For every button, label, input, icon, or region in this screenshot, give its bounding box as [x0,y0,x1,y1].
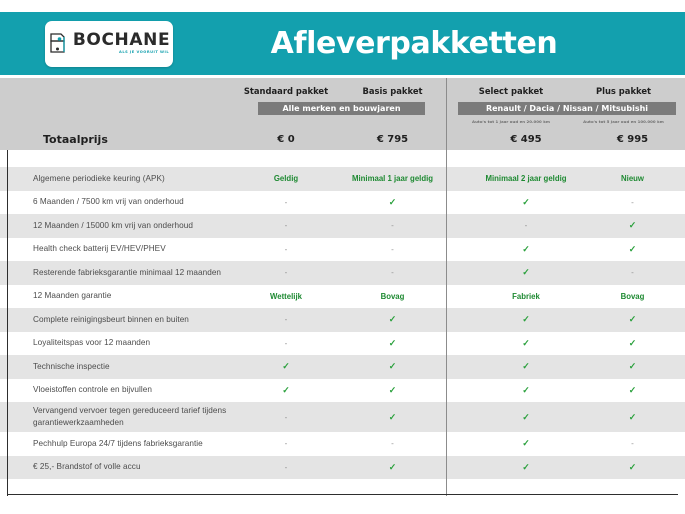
row-cell: - [233,339,339,348]
row-cell: ✓ [472,267,580,278]
row-cell: ✓ [580,314,685,325]
row-label: Complete reinigingsbeurt binnen en buite… [0,314,233,326]
brandbar-all-makes: Alle merken en bouwjaren [258,102,425,115]
check-icon: ✓ [389,197,397,207]
check-icon: ✓ [522,267,530,277]
dash-icon: - [391,439,394,448]
row-cell: ✓ [472,438,580,449]
cell-text: Fabriek [512,292,540,301]
check-icon: ✓ [629,244,637,254]
check-icon: ✓ [389,462,397,472]
total-price-select: € 495 [472,134,580,145]
brandbar-renault-group: Renault / Dacia / Nissan / Mitsubishi [458,102,676,115]
row-cell: Fabriek [472,292,580,301]
cell-text: Minimaal 2 jaar geldig [485,174,566,183]
check-icon: ✓ [389,412,397,422]
logo-tagline: ALS JE VOORUIT WIL [119,51,169,55]
row-cell: ✓ [472,361,580,372]
package-note-select: Auto's tot 1 jaar oud en 20.000 km [457,119,565,124]
table-row: Resterende fabrieksgarantie minimaal 12 … [0,261,685,285]
cell-text: Minimaal 1 jaar geldig [352,174,433,183]
check-icon: ✓ [629,361,637,371]
cell-text: Bovag [621,292,645,301]
row-cell: Geldig [233,174,339,183]
row-cell: ✓ [472,338,580,349]
dash-icon: - [285,339,288,348]
table-bottom-edge [7,494,678,495]
check-icon: ✓ [522,385,530,395]
row-cell: - [472,221,580,230]
row-cell: - [233,463,339,472]
package-comparison-table: Standaard pakket Basis pakket Select pak… [0,78,685,496]
check-icon: ✓ [522,438,530,448]
row-cell: ✓ [472,197,580,208]
table-row: 6 Maanden / 7500 km vrij van onderhoud-✓… [0,191,685,215]
column-group-divider [446,78,447,496]
total-price-label: Totaalprijs [0,133,233,146]
row-label: Vervangend vervoer tegen gereduceerd tar… [0,405,233,429]
check-icon: ✓ [629,338,637,348]
package-note-plus: Auto's tot 5 jaar oud en 100.000 km [571,119,676,124]
check-icon: ✓ [389,338,397,348]
row-cell: Minimaal 1 jaar geldig [339,174,446,183]
row-cell: ✓ [339,412,446,423]
row-cell: - [233,198,339,207]
row-cell: - [580,439,685,448]
row-label: Resterende fabrieksgarantie minimaal 12 … [0,267,233,279]
table-row: Loyaliteitspas voor 12 maanden-✓✓✓ [0,332,685,356]
header-body-gap [0,150,685,167]
row-cell: ✓ [233,385,339,396]
check-icon: ✓ [522,314,530,324]
row-cell: ✓ [472,462,580,473]
dash-icon: - [285,198,288,207]
row-cell: - [339,439,446,448]
table-row: Technische inspectie✓✓✓✓ [0,355,685,379]
row-label: Algemene periodieke keuring (APK) [0,173,233,185]
check-icon: ✓ [282,385,290,395]
row-label: 12 Maanden / 15000 km vrij van onderhoud [0,220,233,232]
row-cell: ✓ [339,314,446,325]
logo-wordmark: BOCHANE [73,32,170,49]
row-cell: ✓ [233,361,339,372]
row-label: 6 Maanden / 7500 km vrij van onderhoud [0,196,233,208]
table-row: Complete reinigingsbeurt binnen en buite… [0,308,685,332]
table-row: Algemene periodieke keuring (APK)GeldigM… [0,167,685,191]
row-label: € 25,- Brandstof of volle accu [0,461,233,473]
row-cell: - [233,221,339,230]
row-cell: ✓ [580,338,685,349]
row-cell: - [339,221,446,230]
dash-icon: - [285,268,288,277]
row-cell: - [580,198,685,207]
total-price-basis: € 795 [339,134,446,145]
row-cell: ✓ [472,385,580,396]
page-title: Afleverpakketten [173,26,655,61]
row-label: Vloeistoffen controle en bijvullen [0,384,233,396]
row-cell: ✓ [472,314,580,325]
package-header-select: Select pakket [457,86,565,96]
dash-icon: - [285,221,288,230]
check-icon: ✓ [522,244,530,254]
row-cell: ✓ [339,385,446,396]
row-label: Loyaliteitspas voor 12 maanden [0,337,233,349]
dash-icon: - [285,245,288,254]
table-row: Vervangend vervoer tegen gereduceerd tar… [0,402,685,432]
row-cell: - [233,439,339,448]
package-header-standaard: Standaard pakket [233,86,339,96]
check-icon: ✓ [629,462,637,472]
row-cell: ✓ [339,361,446,372]
total-price-plus: € 995 [580,134,685,145]
logo-inner: BOCHANE ALS JE VOORUIT WIL [48,32,170,56]
check-icon: ✓ [629,385,637,395]
total-price-row: Totaalprijs € 0 € 795 € 495 € 995 [0,128,685,150]
check-icon: ✓ [389,314,397,324]
table-left-edge [7,150,8,496]
check-icon: ✓ [522,462,530,472]
dash-icon: - [391,245,394,254]
dash-icon: - [285,315,288,324]
dash-icon: - [525,221,528,230]
bochane-logo: BOCHANE ALS JE VOORUIT WIL [45,21,173,67]
row-cell: Nieuw [580,174,685,183]
row-cell: ✓ [472,244,580,255]
dash-icon: - [391,268,394,277]
row-cell: Bovag [580,292,685,301]
row-cell: ✓ [580,385,685,396]
check-icon: ✓ [522,412,530,422]
dash-icon: - [285,463,288,472]
check-icon: ✓ [522,361,530,371]
row-cell: - [580,268,685,277]
row-cell: ✓ [580,361,685,372]
cell-text: Geldig [274,174,298,183]
table-row: 12 Maanden garantieWettelijkBovagFabriek… [0,285,685,309]
row-cell: ✓ [339,462,446,473]
check-icon: ✓ [522,197,530,207]
package-header-basis: Basis pakket [339,86,446,96]
dash-icon: - [631,198,634,207]
row-cell: ✓ [580,220,685,231]
table-row: 12 Maanden / 15000 km vrij van onderhoud… [0,214,685,238]
check-icon: ✓ [389,385,397,395]
dash-icon: - [391,221,394,230]
check-icon: ✓ [629,412,637,422]
check-icon: ✓ [522,338,530,348]
logo-text: BOCHANE ALS JE VOORUIT WIL [73,32,170,55]
row-cell: - [233,245,339,254]
dash-icon: - [631,268,634,277]
cell-text: Bovag [381,292,405,301]
dash-icon: - [285,439,288,448]
row-cell: - [233,413,339,422]
row-label: Health check batterij EV/HEV/PHEV [0,243,233,255]
row-cell: ✓ [472,412,580,423]
check-icon: ✓ [629,220,637,230]
row-cell: - [339,268,446,277]
total-price-standaard: € 0 [233,134,339,145]
dash-icon: - [285,413,288,422]
row-cell: Minimaal 2 jaar geldig [472,174,580,183]
row-cell: Wettelijk [233,292,339,301]
row-cell: ✓ [580,244,685,255]
table-row: Pechhulp Europa 24/7 tijdens fabrieksgar… [0,432,685,456]
row-cell: - [233,315,339,324]
table-row: Vloeistoffen controle en bijvullen✓✓✓✓ [0,379,685,403]
row-label: Pechhulp Europa 24/7 tijdens fabrieksgar… [0,438,233,450]
cell-text: Wettelijk [270,292,302,301]
table-row: € 25,- Brandstof of volle accu-✓✓✓ [0,456,685,480]
bochane-mark-icon [48,32,68,56]
row-cell: ✓ [580,412,685,423]
cell-text: Nieuw [621,174,644,183]
row-cell: - [233,268,339,277]
page-header-banner: BOCHANE ALS JE VOORUIT WIL Afleverpakket… [0,12,685,75]
dash-icon: - [631,439,634,448]
package-header-plus: Plus pakket [571,86,676,96]
row-cell: ✓ [339,197,446,208]
row-label: Technische inspectie [0,361,233,373]
row-cell: ✓ [339,338,446,349]
row-cell: ✓ [580,462,685,473]
check-icon: ✓ [629,314,637,324]
table-row: Health check batterij EV/HEV/PHEV--✓✓ [0,238,685,262]
row-cell: Bovag [339,292,446,301]
row-cell: - [339,245,446,254]
row-label: 12 Maanden garantie [0,290,233,302]
check-icon: ✓ [389,361,397,371]
check-icon: ✓ [282,361,290,371]
